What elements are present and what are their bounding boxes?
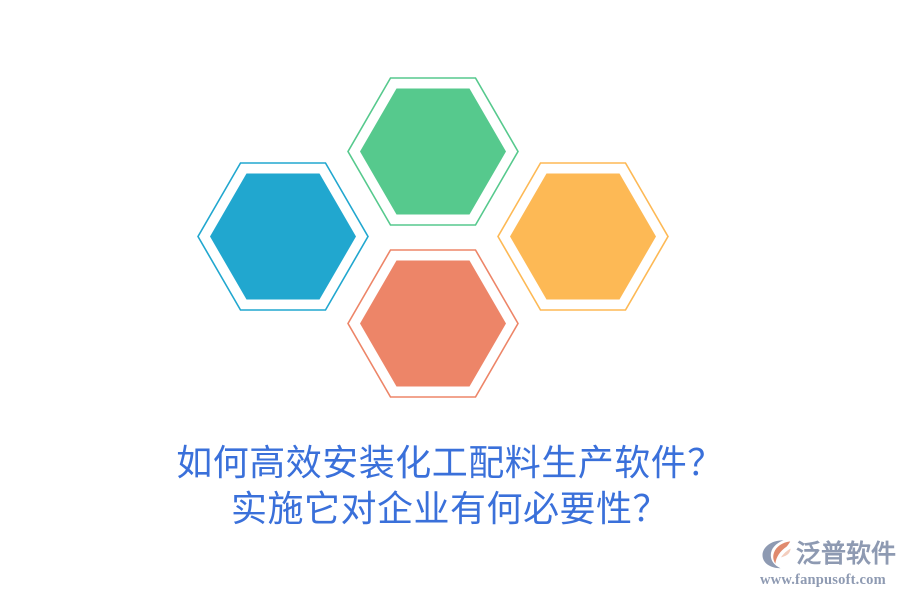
hexagon-cluster: [0, 0, 900, 430]
logo-row: 泛普软件: [760, 536, 892, 572]
hexagon-orange-fill: [510, 174, 656, 300]
hexagon-orange: [498, 163, 668, 310]
fanpu-swoosh-icon: [760, 538, 794, 570]
hexagon-blue-fill: [210, 174, 356, 300]
headline-line-1: 如何高效安装化工配料生产软件？: [0, 440, 900, 486]
poster-canvas: 如何高效安装化工配料生产软件？ 实施它对企业有何必要性？ 泛普软件 www.fa…: [0, 0, 900, 600]
hexagon-green: [348, 78, 518, 225]
hexagon-blue: [198, 163, 368, 310]
logo-url: www.fanpusoft.com: [760, 571, 892, 589]
hexagon-salmon: [348, 250, 518, 397]
hexagon-cluster-svg: [0, 0, 900, 430]
hexagon-salmon-fill: [360, 261, 506, 387]
headline-line-2: 实施它对企业有何必要性？: [0, 486, 900, 532]
brand-logo: 泛普软件 www.fanpusoft.com: [760, 536, 892, 594]
hexagon-green-fill: [360, 89, 506, 215]
page-title: 如何高效安装化工配料生产软件？ 实施它对企业有何必要性？: [0, 440, 900, 532]
logo-wordmark: 泛普软件: [796, 539, 896, 569]
